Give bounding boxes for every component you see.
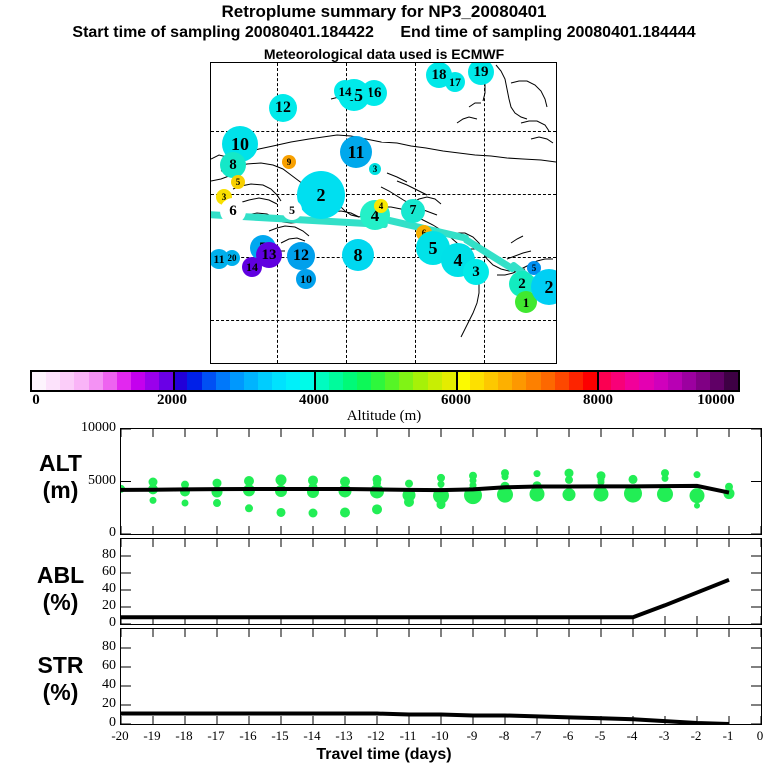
y-tick-label: 20	[102, 598, 116, 614]
y-tick-label: 40	[102, 581, 116, 597]
x-tick-label: -12	[367, 728, 384, 744]
x-tick-label: -3	[659, 728, 670, 744]
cluster-label: 10	[231, 135, 249, 153]
colorbar-segment	[103, 372, 117, 390]
alt-data-point	[438, 481, 445, 488]
colorbar-tick-label: 2000	[157, 392, 187, 409]
colorbar-segment	[696, 372, 710, 390]
colorbar-tick-label: 0	[32, 392, 40, 409]
colorbar-segment	[710, 372, 724, 390]
str-ytick-labels: 020406080	[58, 628, 116, 723]
cluster-label: 12	[293, 248, 309, 264]
colorbar-segment	[32, 372, 46, 390]
cluster-label: 8	[229, 158, 237, 173]
colorbar-segment	[89, 372, 103, 390]
colorbar-segment	[456, 372, 470, 390]
abl-plot[interactable]	[120, 538, 762, 625]
map-canvas: 1918171615141211108935362544713141211201…	[211, 63, 556, 363]
colorbar-segment	[428, 372, 442, 390]
map-gridline-lat	[211, 194, 556, 195]
cluster-label: 17	[449, 76, 461, 88]
x-tick-label: -6	[563, 728, 574, 744]
cluster-label: 11	[347, 143, 364, 161]
cluster-marker[interactable]: 3	[369, 163, 381, 175]
colorbar-segment	[272, 372, 286, 390]
alt-data-point	[404, 497, 414, 507]
alt-data-point	[502, 473, 509, 480]
cluster-label: 20	[228, 254, 237, 263]
cluster-label: 4	[454, 251, 463, 269]
colorbar-segment	[159, 372, 173, 390]
alt-data-point	[437, 500, 446, 509]
cluster-label: 12	[275, 100, 291, 116]
cluster-marker[interactable]: 6	[220, 198, 246, 224]
colorbar-segment	[583, 372, 597, 390]
colorbar-segment	[131, 372, 145, 390]
cluster-label: 7	[410, 204, 417, 218]
str-plot[interactable]	[120, 628, 762, 725]
x-tick-label: 0	[757, 728, 764, 744]
alt-data-point	[565, 476, 573, 484]
map-gridline-lat	[211, 320, 556, 321]
y-tick-label: 60	[102, 564, 116, 580]
meteorological-data-label: Meteorological data used is ECMWF	[0, 46, 768, 62]
colorbar-segment	[60, 372, 74, 390]
abl-plot-canvas	[121, 539, 761, 624]
cluster-marker[interactable]: 12	[269, 94, 297, 122]
cluster-label: 5	[289, 204, 295, 216]
y-tick-label: 10000	[81, 420, 116, 436]
cluster-label: 3	[472, 265, 480, 280]
cluster-label: 2	[545, 278, 554, 296]
alt-data-point	[213, 479, 222, 488]
y-tick-label: 40	[102, 677, 116, 693]
x-tick-label: -17	[207, 728, 224, 744]
x-tick-label: -14	[303, 728, 320, 744]
colorbar-tick-label: 8000	[583, 392, 613, 409]
x-tick-label: -18	[175, 728, 192, 744]
x-tick-label: -20	[111, 728, 128, 744]
alt-data-point	[372, 504, 382, 514]
cluster-label: 11	[213, 253, 224, 265]
colorbar-tick-label: 4000	[299, 392, 329, 409]
map-gridline-lat	[211, 131, 556, 132]
colorbar-segment	[117, 372, 131, 390]
alt-plot-canvas	[121, 429, 761, 534]
cluster-label: 10	[300, 273, 312, 285]
alt-data-point	[694, 503, 700, 509]
colorbar-segment	[244, 372, 258, 390]
colorbar-segment	[258, 372, 272, 390]
cluster-marker[interactable]: 12	[287, 242, 315, 270]
x-tick-label: -19	[143, 728, 160, 744]
colorbar-segment	[498, 372, 512, 390]
colorbar-segment	[357, 372, 371, 390]
cluster-label: 14	[246, 261, 258, 273]
retroplume-map[interactable]: 1918171615141211108935362544713141211201…	[210, 62, 557, 364]
alt-ytick-labels: 0500010000	[58, 428, 116, 533]
cluster-marker[interactable]: 3	[463, 259, 489, 285]
colorbar-segment	[526, 372, 540, 390]
cluster-label: 4	[379, 202, 384, 211]
x-tick-label: -4	[627, 728, 638, 744]
colorbar-segment	[300, 372, 314, 390]
alt-data-point	[182, 500, 189, 507]
alt-data-point	[213, 499, 221, 507]
colorbar-segment	[343, 372, 357, 390]
alt-data-point	[690, 488, 705, 503]
map-gridline-lon	[484, 63, 485, 363]
alt-data-point	[405, 480, 413, 488]
x-tick-label: -8	[499, 728, 510, 744]
colorbar-segment	[512, 372, 526, 390]
colorbar-segment	[682, 372, 696, 390]
str-line	[121, 714, 729, 724]
x-axis-tick-labels: -20-19-18-17-16-15-14-13-12-11-10-9-8-7-…	[0, 728, 768, 746]
colorbar-segment	[145, 372, 159, 390]
alt-data-point	[340, 507, 350, 517]
x-tick-label: -7	[531, 728, 542, 744]
abl-ytick-labels: 020406080	[58, 538, 116, 623]
alt-data-point	[245, 504, 253, 512]
alt-data-point	[694, 471, 701, 478]
colorbar-segment	[385, 372, 399, 390]
x-tick-label: -1	[723, 728, 734, 744]
cluster-label: 5	[532, 264, 537, 273]
abl-line	[121, 580, 729, 617]
colorbar-segment	[399, 372, 413, 390]
y-tick-label: 80	[102, 547, 116, 563]
cluster-label: 5	[236, 178, 241, 187]
cluster-label: 19	[474, 65, 489, 80]
alt-data-point	[276, 474, 287, 485]
colorbar-segment	[654, 372, 668, 390]
cluster-label: 13	[262, 248, 277, 263]
alt-data-point	[309, 509, 318, 518]
sampling-time-row: Start time of sampling 20080401.184422 E…	[0, 24, 768, 42]
alt-data-point	[534, 470, 541, 477]
alt-data-point	[629, 475, 638, 484]
x-tick-label: -5	[595, 728, 606, 744]
cluster-marker[interactable]: 5	[282, 200, 302, 220]
alt-data-point	[277, 508, 286, 517]
colorbar-segment	[639, 372, 653, 390]
colorbar-segment	[668, 372, 682, 390]
colorbar-segment	[724, 372, 738, 390]
cluster-marker[interactable]: 5	[231, 175, 245, 189]
alt-data-point	[594, 487, 609, 502]
colorbar-segment	[315, 372, 329, 390]
alt-data-point	[530, 487, 545, 502]
cluster-label: 8	[354, 246, 363, 264]
colorbar-segment	[413, 372, 427, 390]
cluster-label: 2	[317, 186, 326, 204]
colorbar-segment	[470, 372, 484, 390]
colorbar-segment	[329, 372, 343, 390]
alt-data-point	[662, 475, 669, 482]
cluster-label: 1	[523, 296, 530, 309]
colorbar-tick-label: 10000	[697, 392, 735, 409]
str-plot-canvas	[121, 629, 761, 724]
x-tick-label: -15	[271, 728, 288, 744]
alt-data-point	[370, 484, 384, 498]
colorbar-segment	[555, 372, 569, 390]
colorbar-segment	[625, 372, 639, 390]
colorbar-segment	[46, 372, 60, 390]
cluster-marker[interactable]: 9	[282, 155, 296, 169]
cluster-label: 6	[229, 204, 237, 219]
altitude-colorbar: 0200040006000800010000	[30, 370, 740, 412]
colorbar-segment	[286, 372, 300, 390]
colorbar-segment	[611, 372, 625, 390]
colorbar-segment	[230, 372, 244, 390]
alt-data-point	[150, 497, 157, 504]
colorbar-segment	[202, 372, 216, 390]
cluster-marker[interactable]: 7	[401, 199, 425, 223]
cluster-marker[interactable]: 10	[296, 269, 316, 289]
y-tick-label: 20	[102, 696, 116, 712]
alt-data-point	[657, 486, 673, 502]
y-tick-label: 5000	[88, 473, 116, 489]
cluster-marker[interactable]: 14	[334, 80, 356, 102]
colorbar-gradient	[30, 370, 740, 392]
cluster-label: 2	[518, 277, 526, 292]
end-time-label: End time of sampling 20080401.184444	[400, 24, 695, 42]
cluster-marker[interactable]: 4	[374, 199, 388, 213]
x-tick-label: -13	[335, 728, 352, 744]
colorbar-segment	[442, 372, 456, 390]
cluster-marker[interactable]: 8	[342, 239, 374, 271]
cluster-label: 14	[339, 85, 352, 98]
x-tick-label: -11	[400, 728, 417, 744]
y-tick-label: 60	[102, 658, 116, 674]
colorbar-segment	[371, 372, 385, 390]
page-title: Retroplume summary for NP3_20080401	[0, 2, 768, 22]
colorbar-segment	[484, 372, 498, 390]
cluster-marker[interactable]: 8	[220, 152, 246, 178]
y-tick-label: 80	[102, 639, 116, 655]
cluster-marker[interactable]: 2	[297, 171, 345, 219]
x-axis-title: Travel time (days)	[0, 746, 768, 764]
alt-plot[interactable]	[120, 428, 762, 535]
cluster-marker[interactable]: 11	[340, 136, 372, 168]
start-time-label: Start time of sampling 20080401.184422	[72, 24, 374, 42]
colorbar-segment	[597, 372, 611, 390]
x-tick-label: -16	[239, 728, 256, 744]
colorbar-segment	[569, 372, 583, 390]
colorbar-segment	[541, 372, 555, 390]
cluster-label: 5	[429, 239, 438, 257]
alt-data-point	[563, 488, 576, 501]
colorbar-tick-label: 6000	[441, 392, 471, 409]
cluster-marker[interactable]: 17	[445, 72, 465, 92]
cluster-label: 9	[287, 158, 292, 167]
colorbar-segment	[74, 372, 88, 390]
colorbar-segment	[187, 372, 201, 390]
colorbar-segment	[173, 372, 187, 390]
x-tick-label: -9	[467, 728, 478, 744]
x-tick-label: -2	[691, 728, 702, 744]
cluster-label: 3	[373, 165, 378, 174]
cluster-marker[interactable]: 20	[224, 250, 240, 266]
colorbar-segment	[216, 372, 230, 390]
x-tick-label: -10	[431, 728, 448, 744]
cluster-marker[interactable]: 14	[242, 257, 262, 277]
